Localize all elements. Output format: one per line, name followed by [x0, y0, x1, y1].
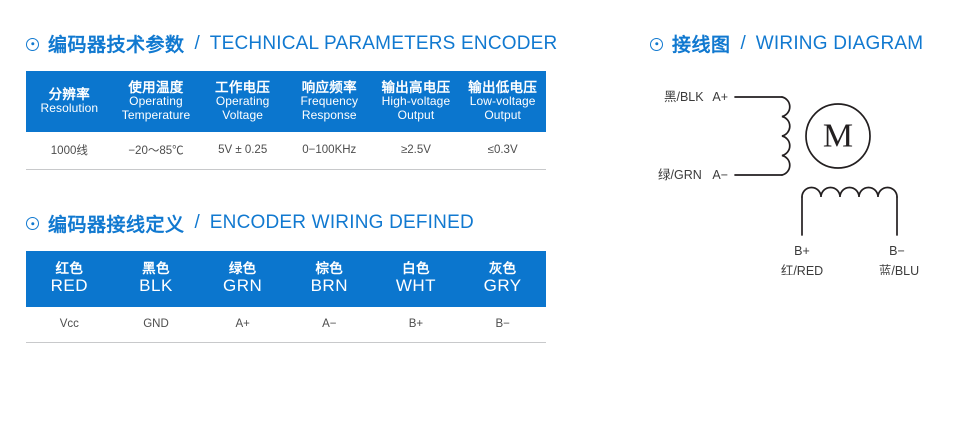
spec-sheet-page: 编码器技术参数 / TECHNICAL PARAMETERS ENCODER 分… [0, 0, 954, 428]
heading-technical-parameters-cn: 编码器技术参数 [48, 30, 185, 57]
label-coil-b-left-wire: 红/RED [781, 263, 823, 275]
cell-resolution: 1000线 [26, 132, 113, 170]
column-header-operating-temperature: 使用温度 Operating Temperature [113, 71, 200, 132]
section-spacer [26, 170, 546, 210]
heading-wiring-diagram-en: WIRING DIAGRAM [756, 33, 923, 55]
circle-dot-icon [650, 38, 663, 51]
cell-gray-function: B− [459, 307, 546, 343]
column-header-cn: 工作电压 [201, 80, 284, 95]
heading-encoder-wiring-defined-cn: 编码器接线定义 [48, 210, 185, 237]
column-header-cn: 输出高电压 [375, 80, 458, 95]
wiring-diagram-figure: M 黑/BLK A+ 绿/GRN A− B+ B− 红/RED 蓝/BLU [650, 75, 950, 275]
column-header-low-voltage-output: 输出低电压 Low-voltage Output [459, 71, 546, 132]
coil-b-winding [802, 188, 897, 198]
column-header-green: 绿色 GRN [199, 251, 286, 307]
technical-parameters-table: 分辨率 Resolution 使用温度 Operating Temperatur… [26, 71, 546, 170]
column-header-cn: 使用温度 [115, 80, 198, 95]
column-header-en: GRY [461, 276, 544, 295]
column-header-cn: 白色 [375, 261, 458, 276]
column-header-frequency-response: 响应频率 Frequency Response [286, 71, 373, 132]
column-header-operating-voltage: 工作电压 Operating Voltage [199, 71, 286, 132]
label-coil-b-right-wire: 蓝/BLU [879, 264, 919, 275]
heading-technical-parameters-en: TECHNICAL PARAMETERS ENCODER [210, 33, 558, 55]
heading-separator: / [195, 33, 200, 55]
cell-green-function: A+ [199, 307, 286, 343]
cell-high-voltage-output: ≥2.5V [373, 132, 460, 170]
label-coil-a-bottom-wire: 绿/GRN [658, 167, 702, 182]
column-header-en: Resolution [28, 102, 111, 115]
heading-separator: / [741, 33, 746, 55]
encoder-wiring-table-head: 红色 RED 黑色 BLK 绿色 GRN 棕色 BRN [26, 251, 546, 307]
column-header-black: 黑色 BLK [113, 251, 200, 307]
column-header-en: GRN [201, 276, 284, 295]
column-header-high-voltage-output: 输出高电压 High-voltage Output [373, 71, 460, 132]
column-header-en: RED [28, 276, 111, 295]
column-header-cn: 红色 [28, 261, 111, 276]
column-header-cn: 输出低电压 [461, 80, 544, 95]
cell-operating-temperature: −20～85℃ [113, 132, 200, 170]
heading-wiring-diagram: 接线图 / WIRING DIAGRAM [650, 30, 950, 57]
column-header-red: 红色 RED [26, 251, 113, 307]
encoder-wiring-table: 红色 RED 黑色 BLK 绿色 GRN 棕色 BRN [26, 251, 546, 343]
table-row: Vcc GND A+ A− B+ B− [26, 307, 546, 343]
column-header-en: WHT [375, 276, 458, 295]
column-header-brown: 棕色 BRN [286, 251, 373, 307]
left-column: 编码器技术参数 / TECHNICAL PARAMETERS ENCODER 分… [26, 30, 546, 343]
column-header-en: High-voltage Output [375, 95, 458, 122]
heading-wiring-diagram-cn: 接线图 [672, 30, 731, 57]
technical-parameters-table-head: 分辨率 Resolution 使用温度 Operating Temperatur… [26, 71, 546, 132]
column-header-white: 白色 WHT [373, 251, 460, 307]
label-coil-a-bottom-terminal: A− [712, 168, 728, 182]
label-coil-a-top-wire: 黑/BLK [664, 90, 704, 104]
cell-black-function: GND [113, 307, 200, 343]
motor-label: M [823, 118, 853, 155]
cell-operating-voltage: 5V ± 0.25 [199, 132, 286, 170]
column-header-en: BRN [288, 276, 371, 295]
column-header-gray: 灰色 GRY [459, 251, 546, 307]
cell-low-voltage-output: ≤0.3V [459, 132, 546, 170]
column-header-cn: 绿色 [201, 261, 284, 276]
label-coil-b-left-terminal: B+ [794, 244, 810, 258]
column-header-cn: 灰色 [461, 261, 544, 276]
heading-separator: / [195, 212, 200, 234]
technical-parameters-table-body: 1000线 −20～85℃ 5V ± 0.25 0−100KHz ≥2.5V ≤… [26, 132, 546, 170]
cell-red-function: Vcc [26, 307, 113, 343]
cell-brown-function: A− [286, 307, 373, 343]
table-header-row: 红色 RED 黑色 BLK 绿色 GRN 棕色 BRN [26, 251, 546, 307]
column-header-cn: 棕色 [288, 261, 371, 276]
heading-encoder-wiring-defined-en: ENCODER WIRING DEFINED [210, 212, 474, 234]
table-row: 1000线 −20～85℃ 5V ± 0.25 0−100KHz ≥2.5V ≤… [26, 132, 546, 170]
column-header-cn: 分辨率 [28, 87, 111, 102]
encoder-wiring-table-body: Vcc GND A+ A− B+ B− [26, 307, 546, 343]
column-header-en: Operating Temperature [115, 95, 198, 122]
coil-a-winding [782, 97, 790, 175]
column-header-en: Operating Voltage [201, 95, 284, 122]
column-header-en: Low-voltage Output [461, 95, 544, 122]
column-header-cn: 响应频率 [288, 80, 371, 95]
heading-technical-parameters: 编码器技术参数 / TECHNICAL PARAMETERS ENCODER [26, 30, 546, 57]
heading-encoder-wiring-defined: 编码器接线定义 / ENCODER WIRING DEFINED [26, 210, 546, 237]
label-coil-b-right-terminal: B− [889, 244, 905, 258]
wiring-diagram-svg: M 黑/BLK A+ 绿/GRN A− B+ B− 红/RED 蓝/BLU [650, 75, 950, 275]
cell-frequency-response: 0−100KHz [286, 132, 373, 170]
column-header-en: BLK [115, 276, 198, 295]
column-header-resolution: 分辨率 Resolution [26, 71, 113, 132]
table-header-row: 分辨率 Resolution 使用温度 Operating Temperatur… [26, 71, 546, 132]
circle-dot-icon [26, 38, 39, 51]
column-header-cn: 黑色 [115, 261, 198, 276]
label-coil-a-top-terminal: A+ [712, 90, 728, 104]
column-header-en: Frequency Response [288, 95, 371, 122]
circle-dot-icon [26, 217, 39, 230]
cell-white-function: B+ [373, 307, 460, 343]
right-column: 接线图 / WIRING DIAGRAM [650, 30, 950, 275]
